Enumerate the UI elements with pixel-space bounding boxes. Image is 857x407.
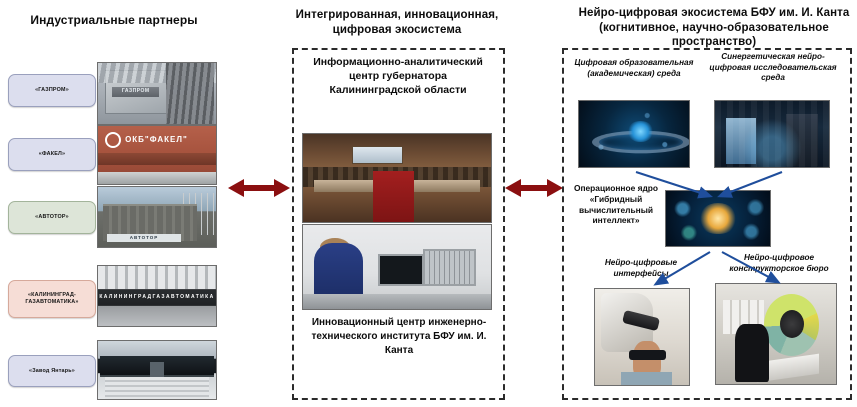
- digital-learning-ring-photo: [578, 100, 690, 168]
- partner-label: «КАЛИНИНГРАД-ГАЗАВТОМАТИКА»: [12, 292, 92, 306]
- connector-arrow-left: [228, 176, 290, 200]
- partner-label: «АВТОТОР»: [35, 214, 69, 221]
- center-panel-footer: Инновационный центр инженерно-техническо…: [300, 316, 498, 357]
- avtotor-plant-photo: АВТОТОР: [97, 186, 217, 248]
- partner-label: «ФАКЕЛ»: [39, 151, 65, 158]
- okb-fakel-building-photo: ОКБ"ФАКЕЛ": [97, 125, 217, 185]
- vr-research-lab-photo: [714, 100, 830, 168]
- partner-label: «Завод Янтарь»: [29, 368, 75, 375]
- government-meeting-hall-photo: [302, 133, 492, 223]
- industrial-partners-column: Индустриальные партнеры «ГАЗПРОМ» ГАЗПРО…: [0, 0, 228, 407]
- partner-chip-kaliningradgazavtomatika[interactable]: «КАЛИНИНГРАД-ГАЗАВТОМАТИКА»: [8, 280, 96, 318]
- right-column-title: Нейро-цифровая экосистема БФУ им. И. Кан…: [578, 6, 850, 50]
- center-panel-heading: Информационно-аналитический центр губерн…: [302, 56, 494, 98]
- left-column-title: Индустриальные партнеры: [8, 13, 220, 28]
- partner-chip-avtotor[interactable]: «АВТОТОР»: [8, 201, 96, 234]
- neuro-interface-vr-photo: [594, 288, 690, 386]
- gazprom-building-photo: ГАЗПРОМ: [97, 62, 217, 125]
- center-column-title: Интегрированная, инновационная, цифровая…: [282, 8, 512, 37]
- node-label-research-environment: Синергетическая нейро-цифровая исследова…: [708, 52, 838, 84]
- partner-label: «ГАЗПРОМ»: [35, 87, 69, 94]
- connector-arrow-right: [505, 176, 563, 200]
- node-label-digital-education: Цифровая образовательная (академическая)…: [570, 58, 698, 79]
- node-connector-arrows: [560, 160, 852, 300]
- partner-chip-gazprom[interactable]: «ГАЗПРОМ»: [8, 74, 96, 107]
- partner-chip-yantar[interactable]: «Завод Янтарь»: [8, 355, 96, 387]
- engineering-control-room-photo: [302, 224, 492, 310]
- partner-chip-fakel[interactable]: «ФАКЕЛ»: [8, 138, 96, 171]
- kaliningradgazavtomatika-building-photo: КАЛИНИНГРАДГАЗАВТОМАТИКА: [97, 265, 217, 327]
- yantar-shipyard-photo: [97, 340, 217, 400]
